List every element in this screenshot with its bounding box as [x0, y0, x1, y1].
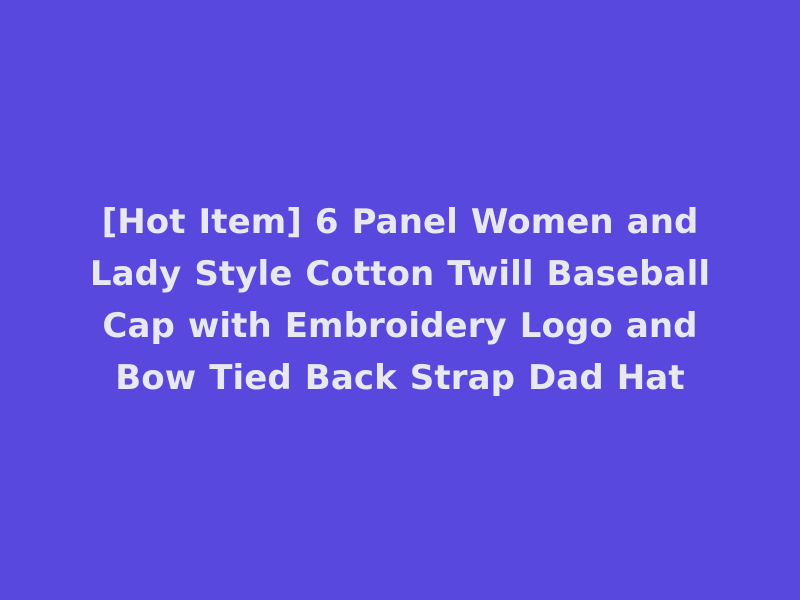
product-title-card: [Hot Item] 6 Panel Women and Lady Style … — [0, 0, 800, 600]
page-title: [Hot Item] 6 Panel Women and Lady Style … — [60, 196, 740, 404]
